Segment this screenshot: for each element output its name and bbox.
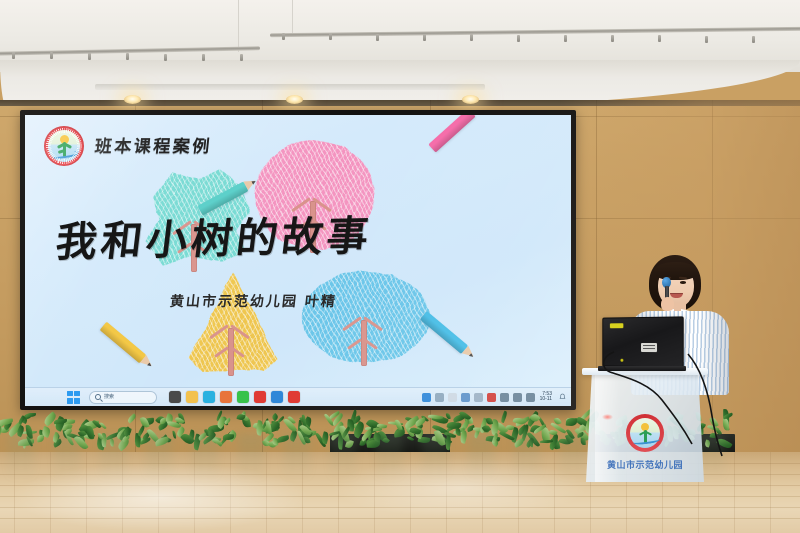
slide-title: 我和小树的故事 [53, 202, 376, 269]
app-icon-explorer[interactable] [186, 391, 198, 403]
app-icon-notes[interactable] [271, 391, 283, 403]
app-icon-wechat[interactable] [237, 391, 249, 403]
ceiling-spotlight [286, 95, 303, 104]
tree-trunk [228, 328, 234, 376]
clock-date: 10-11 [540, 397, 552, 403]
tray-icon-volume[interactable] [513, 393, 522, 402]
track-light-head [564, 35, 567, 42]
track-light-head [517, 35, 520, 42]
screen-surface[interactable]: 班本课程案例 我和小树的故事 黄山市示范幼儿园 叶精 搜索 7:53 [25, 115, 571, 406]
presenter-fringe [654, 262, 698, 280]
taskbar-app-icons[interactable] [169, 391, 300, 403]
kindergarten-logo-icon [44, 126, 84, 166]
tray-icon-cloud[interactable] [435, 393, 444, 402]
taskbar-search-input[interactable]: 搜索 [89, 391, 157, 404]
track-light-head [658, 35, 661, 42]
track-light-head [470, 34, 473, 41]
track-light-head [240, 54, 243, 61]
system-tray[interactable]: 7:53 10-11 [422, 392, 571, 403]
track-light-head [12, 52, 15, 59]
ceiling-spotlight [462, 95, 479, 104]
tray-icon-wifi[interactable] [500, 393, 509, 402]
tray-icon-security[interactable] [448, 393, 457, 402]
tray-icon-ime[interactable] [422, 393, 431, 402]
ceiling-hanging-wire [292, 0, 293, 34]
tray-icon-red[interactable] [487, 393, 496, 402]
track-light-head [705, 36, 708, 43]
tray-icon-app[interactable] [461, 393, 470, 402]
track-light-head [50, 52, 53, 59]
ceiling-hanging-wire [238, 0, 239, 52]
start-button-icon[interactable] [67, 391, 80, 404]
tray-icon-settings[interactable] [474, 393, 483, 402]
cable [596, 340, 736, 460]
presenter-hand [661, 297, 674, 311]
app-icon-widgets[interactable] [169, 391, 181, 403]
taskbar-clock[interactable]: 7:53 10-11 [540, 392, 554, 403]
pink-pencil [428, 115, 475, 153]
track-light-head [282, 33, 285, 40]
laptop-sticker [610, 323, 623, 328]
track-light-head [164, 54, 167, 61]
blue-tree [301, 263, 431, 367]
ceiling-spotlight [124, 95, 141, 104]
track-light-head [423, 34, 426, 41]
app-icon-pdf[interactable] [254, 391, 266, 403]
track-light-head [126, 53, 129, 60]
floor-reflection [330, 458, 590, 518]
ceiling-light-slot [95, 84, 485, 90]
projection-screen[interactable]: 班本课程案例 我和小树的故事 黄山市示范幼儿园 叶精 搜索 7:53 [20, 110, 576, 410]
app-icon-wps[interactable] [288, 391, 300, 403]
notification-bell-icon[interactable] [559, 393, 566, 401]
app-icon-edge[interactable] [203, 391, 215, 403]
app-icon-store[interactable] [220, 391, 232, 403]
track-light-head [752, 36, 755, 43]
track-light-head [611, 35, 614, 42]
tray-icon-battery[interactable] [526, 393, 535, 402]
slide-kicker: 班本课程案例 [94, 132, 214, 157]
yellow-pencil [100, 322, 147, 364]
yellow-tree [175, 271, 291, 375]
windows-taskbar[interactable]: 搜索 7:53 10-11 [25, 387, 571, 406]
track-light-head [202, 54, 205, 61]
slide-subtitle: 黄山市示范幼儿园 叶精 [169, 291, 338, 311]
search-placeholder: 搜索 [104, 395, 114, 400]
track-light-head [88, 53, 91, 60]
track-light-head [329, 33, 332, 40]
search-icon [95, 394, 101, 400]
conference-hall-scene: 班本课程案例 我和小树的故事 黄山市示范幼儿园 叶精 搜索 7:53 [0, 0, 800, 533]
track-light-head [376, 34, 379, 41]
